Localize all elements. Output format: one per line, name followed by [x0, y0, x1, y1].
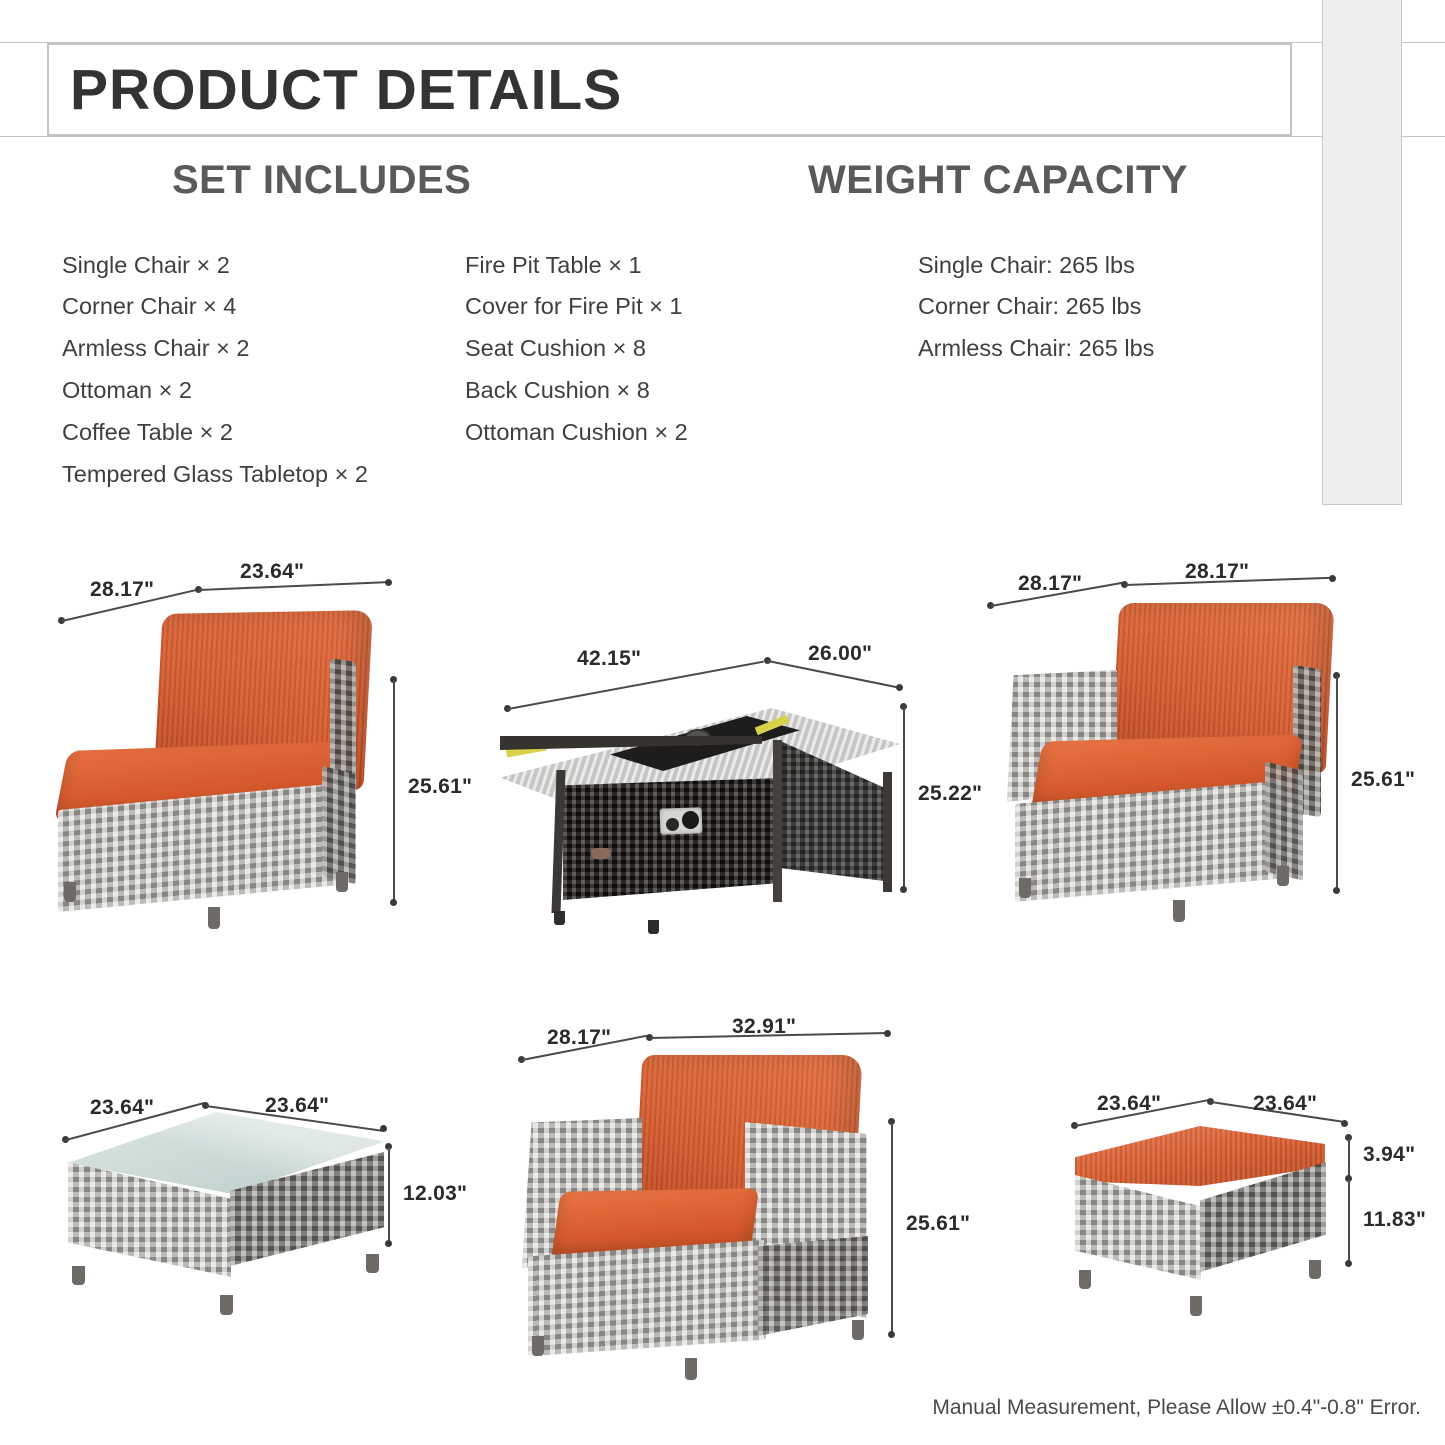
dim-label-base-height: 11.83": [1363, 1208, 1426, 1232]
chair-leg: [852, 1320, 864, 1340]
list-item: Corner Chair: 265 lbs: [918, 293, 1141, 320]
list-item: Armless Chair × 2: [62, 335, 249, 362]
dim-label-height: 25.61": [1351, 768, 1415, 792]
dim-label-width: 23.64": [240, 560, 304, 584]
dim-label-width: 32.91": [732, 1015, 796, 1039]
section-heading-set-includes: SET INCLUDES: [172, 158, 471, 203]
list-item: Tempered Glass Tabletop × 2: [62, 461, 368, 488]
decorative-rule-bottom: [0, 136, 1445, 137]
list-item: Cover for Fire Pit × 1: [465, 293, 682, 320]
chair-leg: [1019, 878, 1031, 898]
product-figure-armless-chair: 28.17" 23.64" 25.61": [40, 560, 460, 960]
ottoman-leg: [1190, 1296, 1202, 1316]
dim-label-depth: 23.64": [1097, 1092, 1161, 1116]
dim-label-depth: 28.17": [90, 578, 154, 602]
chair-base-side: [322, 766, 356, 884]
dim-label-width: 28.17": [1185, 560, 1249, 584]
page-title: PRODUCT DETAILS: [70, 47, 622, 133]
ottoman-front-panel: [1075, 1175, 1201, 1280]
table-foot: [648, 920, 659, 934]
list-item: Seat Cushion × 8: [465, 335, 646, 362]
list-item: Corner Chair × 4: [62, 293, 236, 320]
table-leg: [220, 1295, 233, 1315]
table-foot: [554, 911, 565, 925]
product-figure-ottoman: 23.64" 23.64" 3.94" 11.83": [1055, 1080, 1445, 1345]
list-item: Back Cushion × 8: [465, 377, 650, 404]
dim-label-depth: 26.00": [808, 642, 872, 666]
ottoman-leg: [1309, 1260, 1321, 1279]
list-item: Single Chair: 265 lbs: [918, 252, 1135, 279]
chair-base: [528, 1240, 766, 1357]
ottoman-leg: [1079, 1270, 1091, 1289]
product-figure-coffee-table: 23.64" 23.64" 12.03": [50, 1080, 470, 1330]
list-item: Armless Chair: 265 lbs: [918, 335, 1154, 362]
list-item: Ottoman × 2: [62, 377, 192, 404]
dim-label-height: 25.22": [918, 782, 982, 806]
chair-leg: [532, 1336, 544, 1356]
dim-label-height: 12.03": [403, 1182, 467, 1206]
chair-leg: [685, 1358, 697, 1380]
dim-label-height: 25.61": [906, 1212, 970, 1236]
product-figure-corner-chair: 28.17" 28.17" 25.61": [975, 560, 1375, 960]
chair-leg: [1277, 866, 1289, 886]
product-figure-single-chair: 28.17" 32.91" 25.61": [500, 1010, 960, 1395]
infographic-canvas: PRODUCT DETAILS SET INCLUDES WEIGHT CAPA…: [0, 0, 1445, 1445]
dim-label-depth: 28.17": [547, 1026, 611, 1050]
table-leg: [366, 1254, 379, 1273]
chair-leg: [1173, 900, 1185, 922]
decorative-grey-band: [1322, 0, 1402, 505]
dim-label-cushion-height: 3.94": [1363, 1143, 1415, 1167]
chair-leg: [208, 907, 220, 929]
product-figure-fire-pit-table: 42.15" 26.00" 25.22": [490, 630, 920, 950]
section-heading-weight-capacity: WEIGHT CAPACITY: [808, 158, 1188, 203]
chair-leg: [336, 872, 348, 892]
list-item: Coffee Table × 2: [62, 419, 233, 446]
ignition-knob-icon: [682, 811, 699, 829]
decorative-band-baseline: [1322, 504, 1402, 505]
table-leg: [883, 772, 892, 892]
dim-label-height: 25.61": [408, 775, 472, 799]
list-item: Ottoman Cushion × 2: [465, 419, 688, 446]
list-item: Fire Pit Table × 1: [465, 252, 642, 279]
chair-base-side: [1265, 761, 1303, 880]
dim-label-depth: 28.17": [1018, 572, 1082, 596]
gas-knob-icon: [591, 848, 611, 859]
table-leg: [72, 1266, 85, 1285]
control-hole-icon: [666, 818, 679, 831]
dim-label-width: 23.64": [265, 1094, 329, 1118]
list-item: Single Chair × 2: [62, 252, 230, 279]
firepit-front-panel: [563, 778, 780, 900]
measurement-disclaimer: Manual Measurement, Please Allow ±0.4"-0…: [932, 1396, 1421, 1420]
dim-label-width: 42.15": [577, 647, 641, 671]
chair-leg: [64, 882, 76, 902]
dim-label-depth: 23.64": [90, 1096, 154, 1120]
dim-label-width: 23.64": [1253, 1092, 1317, 1116]
table-leg: [773, 740, 782, 902]
